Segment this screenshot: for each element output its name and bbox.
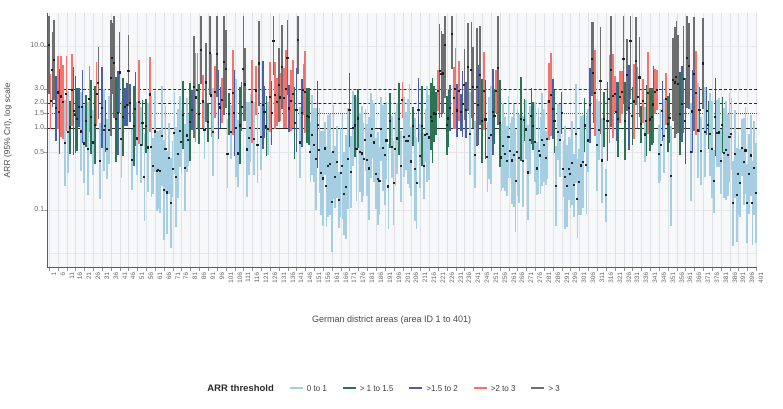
x-tick-label: 101 bbox=[229, 272, 236, 283]
x-tick-label: 321 bbox=[618, 272, 625, 283]
x-tick-label: 316 bbox=[609, 272, 616, 283]
x-tick-mark bbox=[358, 268, 359, 271]
y-tick-mark bbox=[44, 113, 47, 114]
x-tick-label: 151 bbox=[317, 272, 324, 283]
x-tick-mark bbox=[509, 268, 510, 271]
x-tick-label: 286 bbox=[556, 272, 563, 283]
x-tick-mark bbox=[146, 268, 147, 271]
x-tick-mark bbox=[500, 268, 501, 271]
x-tick-label: 281 bbox=[547, 272, 554, 283]
x-tick-mark bbox=[738, 268, 739, 271]
x-tick-label: 26 bbox=[96, 272, 103, 279]
x-tick-label: 261 bbox=[512, 272, 519, 283]
x-tick-mark bbox=[367, 268, 368, 271]
x-tick-label: 181 bbox=[370, 272, 377, 283]
x-tick-mark bbox=[111, 268, 112, 271]
x-tick-label: 156 bbox=[326, 272, 333, 283]
x-tick-mark bbox=[562, 268, 563, 271]
x-tick-label: 206 bbox=[414, 272, 421, 283]
x-tick-label: 371 bbox=[706, 272, 713, 283]
x-tick-mark bbox=[756, 268, 757, 271]
x-tick-label: 296 bbox=[573, 272, 580, 283]
x-tick-label: 326 bbox=[627, 272, 634, 283]
x-tick-mark bbox=[420, 268, 421, 271]
x-tick-label: 341 bbox=[653, 272, 660, 283]
x-tick-label: 36 bbox=[114, 272, 121, 279]
x-tick-mark bbox=[279, 268, 280, 271]
legend-color-key-icon bbox=[531, 387, 544, 389]
x-tick-mark bbox=[332, 268, 333, 271]
x-tick-label: 361 bbox=[688, 272, 695, 283]
x-tick-label: 111 bbox=[246, 272, 253, 282]
legend-item-3[interactable]: >2 to 3 bbox=[474, 384, 516, 393]
x-tick-mark bbox=[67, 268, 68, 271]
x-tick-label: 221 bbox=[441, 272, 448, 283]
x-tick-mark bbox=[517, 268, 518, 271]
x-tick-mark bbox=[535, 268, 536, 271]
x-tick-mark bbox=[447, 268, 448, 271]
x-tick-label: 386 bbox=[733, 272, 740, 283]
x-tick-label: 71 bbox=[176, 272, 183, 279]
x-tick-label: 236 bbox=[467, 272, 474, 283]
x-tick-mark bbox=[712, 268, 713, 271]
y-tick-mark bbox=[44, 46, 47, 47]
x-axis-title: German district areas (area ID 1 to 401) bbox=[0, 314, 783, 324]
x-tick-mark bbox=[243, 268, 244, 271]
x-tick-mark bbox=[120, 268, 121, 271]
x-tick-mark bbox=[235, 268, 236, 271]
x-tick-mark bbox=[341, 268, 342, 271]
x-tick-label: 196 bbox=[397, 272, 404, 283]
legend-color-key-icon bbox=[343, 387, 356, 389]
x-tick-label: 166 bbox=[344, 272, 351, 283]
x-tick-label: 351 bbox=[671, 272, 678, 283]
x-tick-mark bbox=[570, 268, 571, 271]
x-tick-mark bbox=[75, 268, 76, 271]
x-tick-label: 356 bbox=[680, 272, 687, 283]
x-tick-label: 266 bbox=[520, 272, 527, 283]
x-axis-ticks: 1611162126313641465156616671768186919610… bbox=[0, 0, 783, 409]
x-tick-label: 121 bbox=[264, 272, 271, 283]
x-tick-label: 131 bbox=[282, 272, 289, 283]
x-tick-mark bbox=[482, 268, 483, 271]
legend-item-label: 0 to 1 bbox=[307, 384, 327, 393]
x-tick-mark bbox=[526, 268, 527, 271]
legend-item-4[interactable]: > 3 bbox=[531, 384, 559, 393]
x-tick-label: 401 bbox=[759, 272, 766, 283]
y-tick-mark bbox=[44, 210, 47, 211]
x-tick-label: 366 bbox=[697, 272, 704, 283]
x-tick-mark bbox=[305, 268, 306, 271]
x-tick-mark bbox=[703, 268, 704, 271]
x-tick-label: 251 bbox=[494, 272, 501, 283]
x-tick-mark bbox=[270, 268, 271, 271]
legend-item-label: > 1 to 1.5 bbox=[360, 384, 394, 393]
x-tick-mark bbox=[49, 268, 50, 271]
x-tick-label: 301 bbox=[582, 272, 589, 283]
x-tick-mark bbox=[155, 268, 156, 271]
x-tick-mark bbox=[164, 268, 165, 271]
x-tick-mark bbox=[296, 268, 297, 271]
x-tick-label: 241 bbox=[476, 272, 483, 283]
x-tick-mark bbox=[694, 268, 695, 271]
x-tick-label: 141 bbox=[299, 272, 306, 283]
x-tick-mark bbox=[632, 268, 633, 271]
x-tick-label: 1 bbox=[52, 272, 59, 276]
x-tick-label: 31 bbox=[105, 272, 112, 279]
legend-color-key-icon bbox=[474, 387, 487, 389]
x-tick-mark bbox=[58, 268, 59, 271]
y-tick-mark bbox=[44, 128, 47, 129]
x-tick-mark bbox=[553, 268, 554, 271]
x-tick-mark bbox=[464, 268, 465, 271]
x-tick-label: 81 bbox=[193, 272, 200, 279]
legend-items: 0 to 1> 1 to 1.5>1.5 to 2>2 to 3> 3 bbox=[290, 384, 576, 393]
x-tick-label: 106 bbox=[238, 272, 245, 283]
x-tick-mark bbox=[349, 268, 350, 271]
x-tick-label: 216 bbox=[432, 272, 439, 283]
x-tick-mark bbox=[429, 268, 430, 271]
x-tick-mark bbox=[473, 268, 474, 271]
legend-title: ARR threshold bbox=[207, 383, 274, 394]
x-tick-label: 66 bbox=[167, 272, 174, 279]
x-tick-mark bbox=[659, 268, 660, 271]
x-tick-label: 96 bbox=[220, 272, 227, 279]
legend-color-key-icon bbox=[409, 387, 422, 389]
x-tick-mark bbox=[84, 268, 85, 271]
x-tick-label: 126 bbox=[273, 272, 280, 283]
x-tick-label: 46 bbox=[131, 272, 138, 279]
x-tick-mark bbox=[181, 268, 182, 271]
x-tick-mark bbox=[403, 268, 404, 271]
x-tick-mark bbox=[641, 268, 642, 271]
x-tick-mark bbox=[624, 268, 625, 271]
x-tick-mark bbox=[385, 268, 386, 271]
x-tick-label: 91 bbox=[211, 272, 218, 279]
x-tick-label: 116 bbox=[255, 272, 262, 282]
x-tick-mark bbox=[323, 268, 324, 271]
x-tick-label: 226 bbox=[450, 272, 457, 283]
x-tick-label: 6 bbox=[61, 272, 68, 276]
x-tick-label: 331 bbox=[635, 272, 642, 283]
x-tick-mark bbox=[588, 268, 589, 271]
x-tick-label: 86 bbox=[202, 272, 209, 279]
x-tick-mark bbox=[376, 268, 377, 271]
x-tick-label: 41 bbox=[123, 272, 130, 279]
legend-item-0[interactable]: 0 to 1 bbox=[290, 384, 327, 393]
legend-item-label: >1.5 to 2 bbox=[426, 384, 457, 393]
x-tick-mark bbox=[730, 268, 731, 271]
x-tick-mark bbox=[677, 268, 678, 271]
x-tick-label: 201 bbox=[406, 272, 413, 283]
x-tick-label: 396 bbox=[750, 272, 757, 283]
x-tick-label: 161 bbox=[335, 272, 342, 283]
x-tick-mark bbox=[102, 268, 103, 271]
x-tick-label: 391 bbox=[741, 272, 748, 283]
x-tick-label: 256 bbox=[503, 272, 510, 283]
x-tick-label: 186 bbox=[379, 272, 386, 283]
x-tick-label: 381 bbox=[724, 272, 731, 283]
x-tick-mark bbox=[606, 268, 607, 271]
x-tick-label: 21 bbox=[87, 272, 94, 279]
x-tick-mark bbox=[456, 268, 457, 271]
x-tick-label: 56 bbox=[149, 272, 156, 279]
x-tick-mark bbox=[217, 268, 218, 271]
x-tick-label: 51 bbox=[140, 272, 147, 279]
y-tick-mark bbox=[44, 152, 47, 153]
forest-plot-figure: ARR (95% CrI), log scale 10.03.02.01.51.… bbox=[0, 0, 783, 409]
x-tick-label: 271 bbox=[529, 272, 536, 283]
x-tick-mark bbox=[190, 268, 191, 271]
x-tick-label: 16 bbox=[78, 272, 85, 279]
x-tick-label: 61 bbox=[158, 272, 165, 279]
x-tick-mark bbox=[137, 268, 138, 271]
x-tick-label: 306 bbox=[591, 272, 598, 283]
x-tick-label: 211 bbox=[423, 272, 430, 282]
x-tick-label: 146 bbox=[308, 272, 315, 283]
x-tick-mark bbox=[597, 268, 598, 271]
legend-item-label: >2 to 3 bbox=[491, 384, 516, 393]
legend-item-1[interactable]: > 1 to 1.5 bbox=[343, 384, 394, 393]
x-tick-mark bbox=[411, 268, 412, 271]
x-tick-mark bbox=[721, 268, 722, 271]
x-tick-mark bbox=[226, 268, 227, 271]
x-tick-label: 76 bbox=[184, 272, 191, 279]
x-tick-mark bbox=[128, 268, 129, 271]
x-tick-label: 136 bbox=[291, 272, 298, 283]
x-tick-mark bbox=[394, 268, 395, 271]
x-tick-label: 176 bbox=[361, 272, 368, 283]
x-tick-mark bbox=[491, 268, 492, 271]
legend-color-key-icon bbox=[290, 387, 303, 389]
x-tick-mark bbox=[288, 268, 289, 271]
x-tick-mark bbox=[93, 268, 94, 271]
y-tick-mark bbox=[44, 89, 47, 90]
x-tick-label: 246 bbox=[485, 272, 492, 283]
x-tick-mark bbox=[650, 268, 651, 271]
x-tick-label: 11 bbox=[70, 272, 77, 279]
x-tick-label: 231 bbox=[459, 272, 466, 283]
x-tick-mark bbox=[685, 268, 686, 271]
legend-item-label: > 3 bbox=[548, 384, 559, 393]
x-tick-label: 346 bbox=[662, 272, 669, 283]
x-tick-mark bbox=[208, 268, 209, 271]
x-tick-mark bbox=[173, 268, 174, 271]
y-tick-mark bbox=[44, 103, 47, 104]
x-tick-mark bbox=[314, 268, 315, 271]
x-tick-mark bbox=[668, 268, 669, 271]
x-tick-label: 291 bbox=[565, 272, 572, 283]
x-tick-label: 276 bbox=[538, 272, 545, 283]
x-tick-mark bbox=[261, 268, 262, 271]
x-tick-mark bbox=[252, 268, 253, 271]
x-tick-mark bbox=[438, 268, 439, 271]
x-tick-mark bbox=[579, 268, 580, 271]
x-tick-mark bbox=[747, 268, 748, 271]
x-tick-mark bbox=[199, 268, 200, 271]
x-tick-label: 336 bbox=[644, 272, 651, 283]
legend: ARR threshold 0 to 1> 1 to 1.5>1.5 to 2>… bbox=[0, 378, 783, 398]
x-tick-label: 311 bbox=[600, 272, 607, 282]
x-tick-label: 171 bbox=[352, 272, 359, 283]
x-tick-label: 376 bbox=[715, 272, 722, 283]
legend-item-2[interactable]: >1.5 to 2 bbox=[409, 384, 457, 393]
x-tick-mark bbox=[615, 268, 616, 271]
x-tick-mark bbox=[544, 268, 545, 271]
x-tick-label: 191 bbox=[388, 272, 395, 283]
